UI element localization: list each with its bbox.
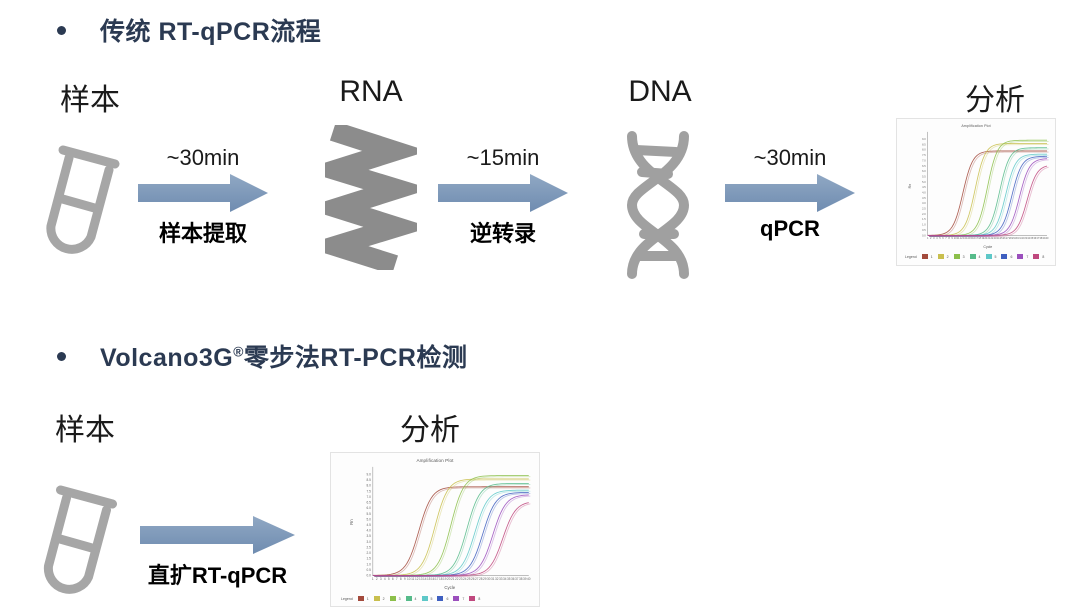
node-label-rna: RNA — [325, 75, 417, 109]
heading-volcano-rest: 零步法RT-PCR检测 — [244, 344, 468, 372]
node-label-analysis: 分析 — [930, 75, 1060, 119]
svg-text:8.0: 8.0 — [922, 148, 926, 152]
arrow-right-icon — [138, 173, 268, 213]
chart-series-1 — [928, 140, 1049, 236]
svg-text:4.0: 4.0 — [922, 191, 926, 195]
chart-xlabel-2: Cycle — [444, 585, 455, 590]
legend-label: 7 — [462, 597, 464, 601]
svg-text:4.5: 4.5 — [366, 523, 371, 527]
chart-plot-area-2: 0.00.51.01.52.02.53.03.54.04.55.05.56.06… — [331, 453, 539, 606]
legend-swatch[interactable] — [437, 596, 443, 601]
chart-curve — [374, 504, 530, 577]
legend-title: Legend — [341, 597, 353, 601]
node-label-sample: 样本 — [45, 75, 135, 119]
chart-curve — [373, 483, 529, 575]
svg-text:7.0: 7.0 — [366, 495, 371, 499]
svg-text:7.5: 7.5 — [922, 153, 926, 157]
svg-text:5: 5 — [388, 577, 390, 581]
svg-text:9.0: 9.0 — [366, 473, 371, 477]
legend-swatch[interactable] — [406, 596, 412, 601]
arrow-reverse-transcription: ~15min 逆转录 — [438, 145, 568, 248]
svg-text:1.0: 1.0 — [922, 223, 926, 227]
svg-text:4.0: 4.0 — [366, 529, 371, 533]
node-sample-2: 样本 — [40, 405, 130, 605]
node-label-dna: DNA — [612, 75, 708, 109]
node-rna: RNA — [325, 75, 417, 275]
legend-swatch[interactable] — [922, 254, 928, 259]
section-heading-volcano3g: Volcano3G®零步法RT-PCR检测 — [57, 338, 467, 374]
svg-text:7.0: 7.0 — [922, 158, 926, 162]
chart-y-ticks-1: 0.00.51.01.52.02.53.03.54.04.55.05.56.06… — [922, 137, 926, 237]
legend-label: 2 — [947, 255, 949, 259]
svg-text:2.0: 2.0 — [366, 551, 371, 555]
svg-text:2: 2 — [376, 577, 378, 581]
legend-swatch[interactable] — [358, 596, 364, 601]
chart-plot-area-1: 0.00.51.01.52.02.53.03.54.04.55.05.56.06… — [897, 119, 1055, 265]
registered-mark-icon: ® — [233, 345, 244, 360]
arrow-right-icon — [725, 173, 855, 213]
chart-axes-2 — [373, 467, 529, 576]
arrow-qpcr: ~30min qPCR — [725, 145, 855, 242]
legend-swatch[interactable] — [390, 596, 396, 601]
svg-text:1: 1 — [927, 236, 929, 240]
chart-curve — [929, 160, 1048, 237]
legend-label: 5 — [995, 255, 997, 259]
node-dna: DNA — [612, 75, 708, 280]
chart-curve — [373, 503, 529, 576]
chart-curve — [929, 155, 1048, 236]
svg-text:9.0: 9.0 — [922, 137, 926, 141]
svg-text:0.5: 0.5 — [922, 228, 926, 232]
svg-text:0.5: 0.5 — [366, 568, 371, 572]
legend-label: 6 — [446, 597, 448, 601]
legend-title: Legend — [905, 255, 917, 259]
amplification-plot-chart-2[interactable]: Amplification Plot 0.00.51.01.52.02.53.0… — [330, 452, 540, 607]
svg-text:5.0: 5.0 — [366, 517, 371, 521]
legend-label: 8 — [478, 597, 480, 601]
svg-text:1.5: 1.5 — [922, 217, 926, 221]
svg-text:3.0: 3.0 — [922, 201, 926, 205]
svg-text:2.0: 2.0 — [922, 212, 926, 216]
svg-text:6.5: 6.5 — [366, 501, 371, 505]
svg-text:9: 9 — [404, 577, 406, 581]
legend-label: 2 — [383, 597, 385, 601]
svg-text:0.0: 0.0 — [922, 233, 926, 237]
chart-y-ticks-2: 0.00.51.01.52.02.53.03.54.04.55.05.56.06… — [366, 473, 371, 578]
bullet-dot-icon — [57, 26, 66, 35]
chart-ylabel-2: Rn — [349, 519, 354, 525]
test-tube-icon — [34, 470, 129, 600]
legend-label: 5 — [431, 597, 433, 601]
chart-ylabel-1: Rn — [908, 184, 912, 189]
test-tube-icon — [39, 130, 129, 260]
svg-text:1.5: 1.5 — [366, 557, 371, 561]
chart-x-ticks-2: 1234567891011121314151617181920212223242… — [372, 577, 531, 581]
chart-curve — [929, 149, 1048, 237]
rna-strand-icon — [325, 125, 417, 270]
chart-curve — [374, 491, 530, 576]
legend-label: 1 — [931, 255, 933, 259]
legend-label: 1 — [367, 597, 369, 601]
legend-swatch[interactable] — [1033, 254, 1039, 259]
arrow-caption-extraction: 样本提取 — [138, 216, 268, 248]
chart-series-2 — [373, 476, 531, 577]
arrow-direct-amplification: 直扩RT-qPCR — [140, 487, 295, 590]
legend-swatch[interactable] — [938, 254, 944, 259]
svg-text:5.5: 5.5 — [922, 174, 926, 178]
legend-label: 8 — [1042, 255, 1044, 259]
node-analysis-2: 分析 — [330, 405, 530, 445]
chart-curve — [374, 485, 530, 577]
legend-label: 3 — [399, 597, 401, 601]
legend-swatch[interactable] — [954, 254, 960, 259]
arrow-caption-reverse-transcription: 逆转录 — [438, 216, 568, 248]
dna-helix-icon — [612, 130, 708, 280]
heading-text-traditional: 传统 RT-qPCR流程 — [100, 12, 321, 48]
svg-text:8.0: 8.0 — [366, 484, 371, 488]
svg-text:6.0: 6.0 — [922, 169, 926, 173]
legend-swatch[interactable] — [1017, 254, 1023, 259]
svg-text:5.5: 5.5 — [366, 512, 371, 516]
arrow-extraction: ~30min 样本提取 — [138, 145, 268, 248]
section-heading-traditional: 传统 RT-qPCR流程 — [57, 12, 321, 48]
arrow-time-reverse-transcription: ~15min — [438, 145, 568, 171]
arrow-time-qpcr: ~30min — [725, 145, 855, 171]
svg-text:0.0: 0.0 — [366, 574, 371, 578]
arrow-time-extraction: ~30min — [138, 145, 268, 171]
chart-axes-1 — [928, 132, 1047, 236]
svg-text:6.0: 6.0 — [366, 506, 371, 510]
legend-swatch[interactable] — [986, 254, 992, 259]
legend-label: 4 — [979, 255, 981, 259]
legend-swatch[interactable] — [469, 596, 475, 601]
svg-text:40: 40 — [1046, 236, 1049, 240]
legend-label: 6 — [1010, 255, 1012, 259]
slide-canvas: 传统 RT-qPCR流程 样本 ~30min 样本提取 R — [0, 0, 1080, 611]
node-label-sample-2: 样本 — [40, 405, 130, 449]
bullet-dot-icon — [57, 352, 66, 361]
arrow-caption-qpcr: qPCR — [725, 216, 855, 242]
legend-label: 7 — [1026, 255, 1028, 259]
chart-curve — [374, 496, 530, 576]
svg-text:3.0: 3.0 — [366, 540, 371, 544]
heading-text-volcano3g: Volcano3G®零步法RT-PCR检测 — [100, 338, 467, 374]
amplification-plot-chart-1[interactable]: Amplification Plot 0.00.51.01.52.02.53.0… — [896, 118, 1056, 266]
svg-text:5.0: 5.0 — [922, 180, 926, 184]
node-sample: 样本 — [45, 75, 135, 275]
svg-text:8.5: 8.5 — [922, 142, 926, 146]
svg-text:3.5: 3.5 — [366, 534, 371, 538]
svg-text:40: 40 — [527, 577, 531, 581]
svg-text:7.5: 7.5 — [366, 489, 371, 493]
svg-text:8.5: 8.5 — [366, 478, 371, 482]
arrow-caption-direct-amplification: 直扩RT-qPCR — [140, 558, 295, 590]
legend-label: 3 — [963, 255, 965, 259]
legend-label: 4 — [415, 597, 417, 601]
svg-text:6: 6 — [392, 577, 394, 581]
legend-swatch[interactable] — [1001, 254, 1007, 259]
arrow-right-icon — [438, 173, 568, 213]
svg-text:1.0: 1.0 — [366, 562, 371, 566]
chart-legend-2[interactable]: Legend12345678 — [341, 596, 482, 601]
legend-swatch[interactable] — [970, 254, 976, 259]
svg-text:3.5: 3.5 — [922, 196, 926, 200]
svg-text:1: 1 — [372, 577, 374, 581]
svg-text:8: 8 — [400, 577, 402, 581]
node-label-analysis-2: 分析 — [330, 405, 530, 449]
svg-text:3: 3 — [380, 577, 382, 581]
chart-title-2: Amplification Plot — [331, 458, 539, 463]
chart-title-1: Amplification Plot — [897, 124, 1055, 128]
chart-xlabel-1: Cycle — [983, 245, 992, 249]
svg-text:7: 7 — [396, 577, 398, 581]
chart-legend-1[interactable]: Legend12345678 — [905, 254, 1046, 259]
heading-volcano-brand: Volcano3G — [100, 344, 233, 372]
legend-swatch[interactable] — [374, 596, 380, 601]
legend-swatch[interactable] — [422, 596, 428, 601]
svg-text:2.5: 2.5 — [366, 545, 371, 549]
svg-text:4.5: 4.5 — [922, 185, 926, 189]
legend-swatch[interactable] — [453, 596, 459, 601]
svg-text:6.5: 6.5 — [922, 164, 926, 168]
chart-curve — [373, 495, 529, 575]
arrow-right-icon — [140, 515, 295, 555]
svg-text:4: 4 — [384, 577, 386, 581]
svg-text:2.5: 2.5 — [922, 207, 926, 211]
